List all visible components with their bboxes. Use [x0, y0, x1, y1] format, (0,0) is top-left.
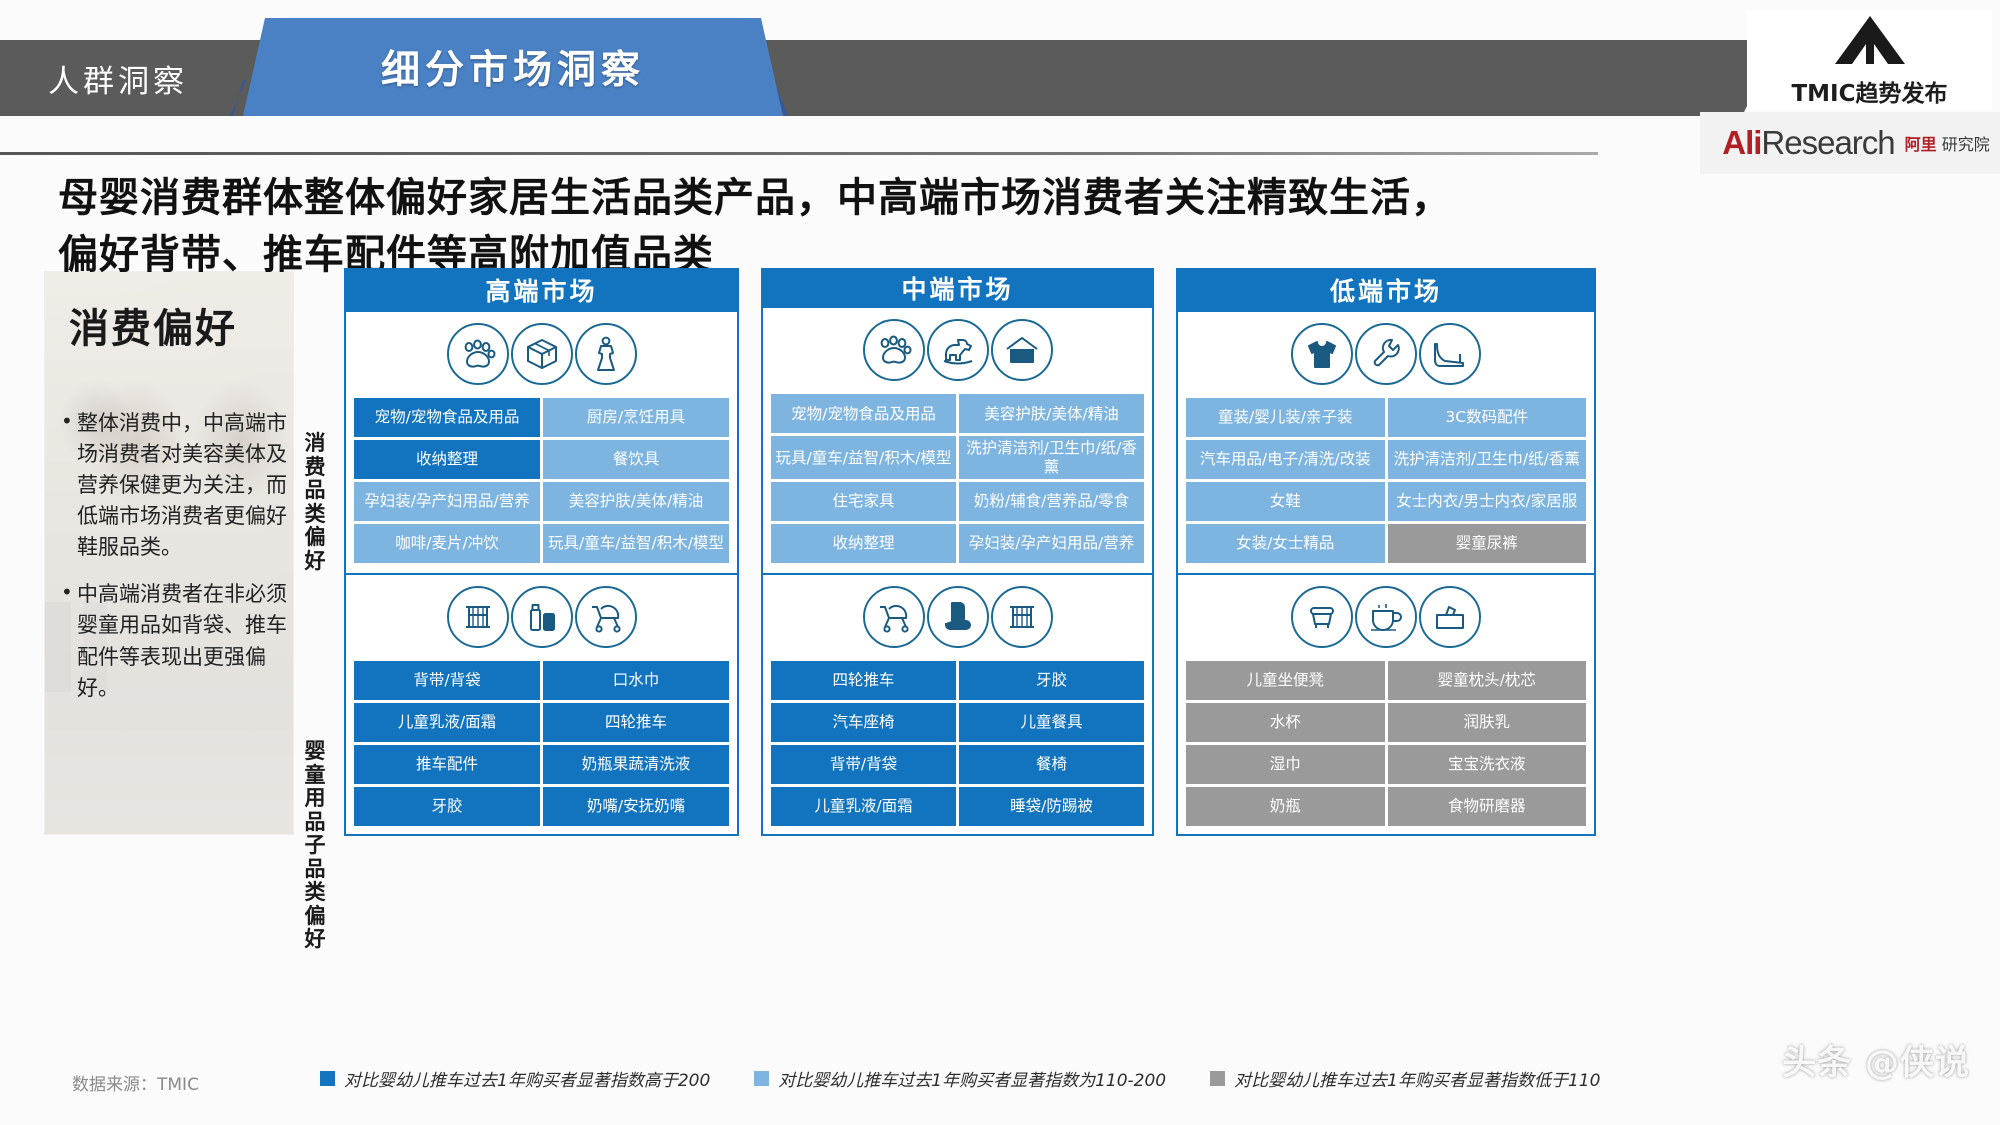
tissue-icon [1419, 586, 1481, 648]
row-label-char: 子 [300, 834, 330, 858]
section-label: 人群洞察 [48, 40, 188, 116]
row-label-char: 类 [300, 881, 330, 905]
box-icon [511, 323, 573, 385]
table-row: 奶瓶 食物研磨器 [1186, 787, 1586, 826]
table-cell: 玩具/童车/益智/积木/模型 [771, 436, 956, 479]
legend-swatch-light [754, 1071, 769, 1086]
card-body-high: 宠物/宠物食品及用品 厨房/烹饪用具 收纳整理 餐饮具 孕妇装/孕产妇用品/营养… [344, 312, 739, 836]
table-row: 收纳整理 孕妇装/孕产妇用品/营养 [771, 524, 1144, 563]
stroller-icon [863, 586, 925, 648]
row-label-category-preference: 消费品类偏好 [300, 432, 330, 573]
ali-research-logo: AliResearch 阿里 研究院 [1700, 112, 2000, 174]
table-mid-top: 宠物/宠物食品及用品 美容护肤/美体/精油 玩具/童车/益智/积木/模型 洗护清… [763, 388, 1152, 571]
list-item: 中高端消费者在非必须婴童用品如背袋、推车配件等表现出更强偏好。 [61, 579, 287, 703]
table-row: 女装/女士精品 婴童尿裤 [1186, 524, 1586, 563]
tmic-logo: TMIC趋势发布 [1747, 10, 1992, 110]
table-cell: 宝宝洗衣液 [1388, 745, 1587, 784]
card-body-mid: 宠物/宠物食品及用品 美容护肤/美体/精油 玩具/童车/益智/积木/模型 洗护清… [761, 308, 1154, 836]
row-label-char: 费 [300, 456, 330, 480]
row-label-char: 消 [300, 432, 330, 456]
table-cell: 女士内衣/男士内衣/家居服 [1388, 482, 1587, 521]
table-cell: 女鞋 [1186, 482, 1385, 521]
table-cell: 奶瓶果蔬清洗液 [543, 745, 729, 784]
table-cell: 童装/婴儿装/亲子装 [1186, 398, 1385, 437]
card-title-low: 低端市场 [1176, 268, 1596, 312]
table-row: 女鞋 女士内衣/男士内衣/家居服 [1186, 482, 1586, 521]
market-cards: 高端市场 [344, 268, 1954, 836]
table-cell: 宠物/宠物食品及用品 [354, 398, 540, 437]
table-cell: 住宅家具 [771, 482, 956, 521]
row-label-char: 好 [300, 550, 330, 574]
table-cell: 奶嘴/安抚奶嘴 [543, 787, 729, 826]
tmic-arrow-icon [1833, 14, 1907, 71]
carrier-icon [447, 586, 509, 648]
watermark: 头条 @侠说 [1782, 1035, 1970, 1084]
data-source: 数据来源：TMIC [72, 1070, 199, 1095]
row-label-char: 类 [300, 503, 330, 527]
subsection-high: 背带/背袋 口水巾 儿童乳液/面霜 四轮推车 推车配件 奶瓶果蔬清洗液 牙胶 [346, 573, 737, 834]
list-item: 整体消费中，中高端市场消费者对美容美体及营养保健更为关注，而低端市场消费者更偏好… [61, 408, 287, 563]
row-label-char: 用 [300, 787, 330, 811]
paw-icon [863, 319, 925, 381]
legend-label: 对比婴幼儿推车过去1年购买者显著指数为110-200 [778, 1066, 1166, 1091]
row-label-char: 婴 [300, 740, 330, 764]
car-seat-icon [927, 586, 989, 648]
table-row: 咖啡/麦片/冲饮 玩具/童车/益智/积木/模型 [354, 524, 729, 563]
table-cell: 宠物/宠物食品及用品 [771, 394, 956, 433]
table-row: 宠物/宠物食品及用品 厨房/烹饪用具 [354, 398, 729, 437]
row-label-char: 偏 [300, 526, 330, 550]
table-row: 玩具/童车/益智/积木/模型 洗护清洁剂/卫生巾/纸/香薰 [771, 436, 1144, 479]
table-cell: 奶粉/辅食/营养品/零食 [959, 482, 1144, 521]
stroller-icon [575, 586, 637, 648]
wrench-icon [1355, 323, 1417, 385]
table-row: 童装/婴儿装/亲子装 3C数码配件 [1186, 398, 1586, 437]
table-row: 背带/背袋 口水巾 [354, 661, 729, 700]
table-cell: 咖啡/麦片/冲饮 [354, 524, 540, 563]
market-card-high: 高端市场 [344, 268, 739, 836]
table-cell: 润肤乳 [1388, 703, 1587, 742]
rocking-horse-icon [927, 319, 989, 381]
table-cell: 四轮推车 [543, 703, 729, 742]
potty-icon [1291, 586, 1353, 648]
ali-logo-en-ali: Ali [1722, 124, 1761, 161]
header-title: 细分市场洞察 [381, 39, 645, 95]
legend-label: 对比婴幼儿推车过去1年购买者显著指数高于200 [344, 1066, 710, 1091]
table-mid-bottom: 四轮推车 牙胶 汽车座椅 儿童餐具 背带/背袋 餐椅 儿童乳液/面霜 [763, 655, 1152, 834]
header-band: 人群洞察 细分市场洞察 [0, 40, 1905, 116]
table-high-top: 宠物/宠物食品及用品 厨房/烹饪用具 收纳整理 餐饮具 孕妇装/孕产妇用品/营养… [346, 392, 737, 571]
table-row: 宠物/宠物食品及用品 美容护肤/美体/精油 [771, 394, 1144, 433]
table-row: 四轮推车 牙胶 [771, 661, 1144, 700]
row-label-baby-subcategory-preference: 婴童用品子品类偏好 [300, 740, 330, 952]
panel-title: 消费偏好 [69, 296, 279, 354]
paw-icon [447, 323, 509, 385]
table-cell: 收纳整理 [354, 440, 540, 479]
legend-swatch-gray [1210, 1071, 1225, 1086]
table-row: 牙胶 奶嘴/安抚奶嘴 [354, 787, 729, 826]
tshirt-icon [1291, 323, 1353, 385]
table-row: 住宅家具 奶粉/辅食/营养品/零食 [771, 482, 1144, 521]
row-label-char: 好 [300, 928, 330, 952]
table-cell: 儿童乳液/面霜 [771, 787, 956, 826]
high-heel-icon [1419, 323, 1481, 385]
cup-icon [1355, 586, 1417, 648]
table-cell: 背带/背袋 [771, 745, 956, 784]
table-cell: 孕妇装/孕产妇用品/营养 [354, 482, 540, 521]
table-row: 汽车用品/电子/清洗/改装 洗护清洁剂/卫生巾/纸/香薰 [1186, 440, 1586, 479]
page-title: 母婴消费群体整体偏好家居生活品类产品，中高端市场消费者关注精致生活，偏好背带、推… [58, 170, 1478, 284]
table-cell: 餐椅 [959, 745, 1144, 784]
market-card-mid: 中端市场 [761, 268, 1154, 836]
table-cell: 女装/女士精品 [1186, 524, 1385, 563]
table-row: 推车配件 奶瓶果蔬清洗液 [354, 745, 729, 784]
table-cell: 奶瓶 [1186, 787, 1385, 826]
slide-root: 人群洞察 细分市场洞察 TMIC趋势发布 AliResearch 阿里 研究院 … [0, 0, 2000, 1125]
table-cell: 婴童尿裤 [1388, 524, 1587, 563]
dress-icon [575, 323, 637, 385]
icon-row-low-top [1178, 316, 1594, 392]
card-title-mid: 中端市场 [761, 268, 1154, 308]
header-divider [0, 152, 1598, 155]
legend-label: 对比婴幼儿推车过去1年购买者显著指数低于110 [1234, 1066, 1600, 1091]
ali-logo-en: AliResearch [1722, 124, 1894, 162]
table-row: 汽车座椅 儿童餐具 [771, 703, 1144, 742]
ali-logo-en-research: Research [1761, 124, 1894, 161]
legend-item-mid: 对比婴幼儿推车过去1年购买者显著指数为110-200 [754, 1066, 1166, 1091]
table-cell: 牙胶 [354, 787, 540, 826]
table-row: 儿童乳液/面霜 睡袋/防踢被 [771, 787, 1144, 826]
table-low-bottom: 儿童坐便凳 婴童枕头/枕芯 水杯 润肤乳 湿巾 宝宝洗衣液 奶瓶 [1178, 655, 1594, 834]
table-cell: 厨房/烹饪用具 [543, 398, 729, 437]
table-row: 湿巾 宝宝洗衣液 [1186, 745, 1586, 784]
table-cell: 湿巾 [1186, 745, 1385, 784]
table-row: 背带/背袋 餐椅 [771, 745, 1144, 784]
icon-row-mid-bottom [763, 579, 1152, 655]
table-cell: 食物研磨器 [1388, 787, 1587, 826]
table-high-bottom: 背带/背袋 口水巾 儿童乳液/面霜 四轮推车 推车配件 奶瓶果蔬清洗液 牙胶 [346, 655, 737, 834]
card-title-high: 高端市场 [344, 268, 739, 312]
table-cell: 玩具/童车/益智/积木/模型 [543, 524, 729, 563]
table-cell: 洗护清洁剂/卫生巾/纸/香薰 [1388, 440, 1587, 479]
ali-logo-cn-2: 研究院 [1942, 135, 1990, 154]
legend-item-high: 对比婴幼儿推车过去1年购买者显著指数高于200 [320, 1066, 710, 1091]
preference-panel: 消费偏好 整体消费中，中高端市场消费者对美容美体及营养保健更为关注，而低端市场消… [45, 272, 293, 834]
table-row: 收纳整理 餐饮具 [354, 440, 729, 479]
table-cell: 餐饮具 [543, 440, 729, 479]
table-row: 水杯 润肤乳 [1186, 703, 1586, 742]
card-body-low: 童装/婴儿装/亲子装 3C数码配件 汽车用品/电子/清洗/改装 洗护清洁剂/卫生… [1176, 312, 1596, 836]
legend-item-low: 对比婴幼儿推车过去1年购买者显著指数低于110 [1210, 1066, 1600, 1091]
row-label-char: 偏 [300, 905, 330, 929]
house-icon [991, 319, 1053, 381]
carrier-icon [991, 586, 1053, 648]
table-cell: 孕妇装/孕产妇用品/营养 [959, 524, 1144, 563]
legend-swatch-dark [320, 1071, 335, 1086]
subsection-mid: 四轮推车 牙胶 汽车座椅 儿童餐具 背带/背袋 餐椅 儿童乳液/面霜 [763, 573, 1152, 834]
icon-row-low-bottom [1178, 579, 1594, 655]
table-cell: 汽车座椅 [771, 703, 956, 742]
icon-row-mid-top [763, 312, 1152, 388]
table-cell: 儿童坐便凳 [1186, 661, 1385, 700]
icon-row-high-bottom [346, 579, 737, 655]
table-cell: 美容护肤/美体/精油 [959, 394, 1144, 433]
icon-row-high-top [346, 316, 737, 392]
panel-bullet-list: 整体消费中，中高端市场消费者对美容美体及营养保健更为关注，而低端市场消费者更偏好… [61, 408, 287, 720]
header-blue-ribbon: 细分市场洞察 [243, 18, 783, 116]
row-label-char: 童 [300, 764, 330, 788]
table-cell: 汽车用品/电子/清洗/改装 [1186, 440, 1385, 479]
row-label-char: 品 [300, 811, 330, 835]
table-cell: 3C数码配件 [1388, 398, 1587, 437]
legend: 对比婴幼儿推车过去1年购买者显著指数高于200 对比婴幼儿推车过去1年购买者显著… [320, 1066, 1960, 1091]
table-cell: 水杯 [1186, 703, 1385, 742]
table-cell: 睡袋/防踢被 [959, 787, 1144, 826]
table-cell: 收纳整理 [771, 524, 956, 563]
row-label-char: 品 [300, 479, 330, 503]
table-cell: 牙胶 [959, 661, 1144, 700]
table-cell: 背带/背袋 [354, 661, 540, 700]
table-row: 儿童乳液/面霜 四轮推车 [354, 703, 729, 742]
table-row: 孕妇装/孕产妇用品/营养 美容护肤/美体/精油 [354, 482, 729, 521]
table-low-top: 童装/婴儿装/亲子装 3C数码配件 汽车用品/电子/清洗/改装 洗护清洁剂/卫生… [1178, 392, 1594, 571]
table-cell: 婴童枕头/枕芯 [1388, 661, 1587, 700]
market-card-low: 低端市场 [1176, 268, 1596, 836]
table-cell: 美容护肤/美体/精油 [543, 482, 729, 521]
tmic-logo-text: TMIC趋势发布 [1791, 74, 1947, 108]
table-cell: 推车配件 [354, 745, 540, 784]
ali-logo-cn-1: 阿里 [1905, 135, 1937, 154]
table-row: 儿童坐便凳 婴童枕头/枕芯 [1186, 661, 1586, 700]
cream-icon [511, 586, 573, 648]
subsection-low: 儿童坐便凳 婴童枕头/枕芯 水杯 润肤乳 湿巾 宝宝洗衣液 奶瓶 [1178, 573, 1594, 834]
row-label-char: 品 [300, 858, 330, 882]
table-cell: 儿童餐具 [959, 703, 1144, 742]
table-cell: 四轮推车 [771, 661, 956, 700]
ali-logo-cn: 阿里 研究院 [1905, 131, 1990, 155]
table-cell: 口水巾 [543, 661, 729, 700]
table-cell: 洗护清洁剂/卫生巾/纸/香薰 [959, 436, 1144, 479]
table-cell: 儿童乳液/面霜 [354, 703, 540, 742]
